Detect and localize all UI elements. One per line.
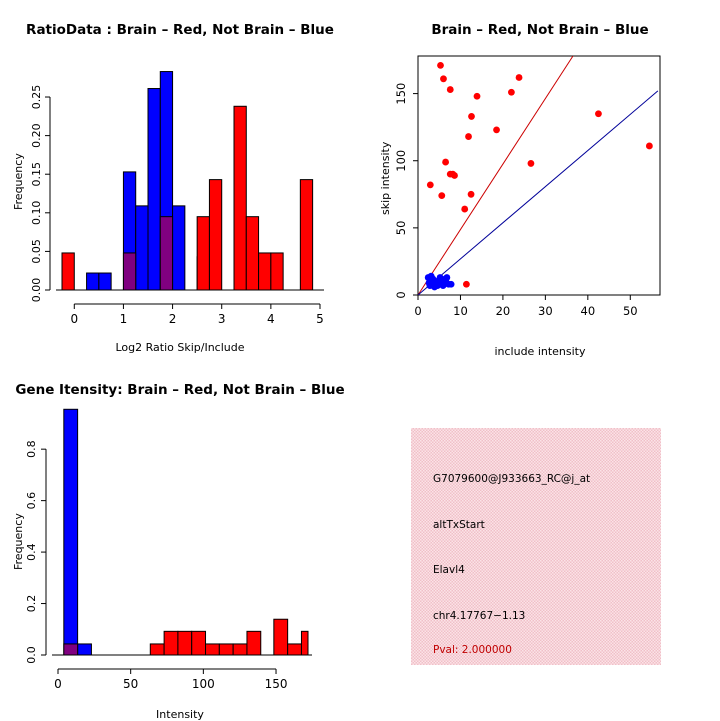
gene-histogram-ylabel: Frequency bbox=[12, 513, 25, 570]
histogram-bar-notbrain bbox=[78, 644, 92, 655]
info-event-type: altTxStart bbox=[433, 519, 485, 531]
scatter-point bbox=[448, 281, 455, 288]
histogram-bar-brain bbox=[62, 253, 74, 290]
histogram-bar-notbrain bbox=[148, 89, 160, 290]
x-tick-label: 40 bbox=[581, 304, 596, 318]
scatter-xlabel: include intensity bbox=[360, 345, 720, 358]
scatter-point bbox=[461, 206, 468, 213]
x-tick-label: 150 bbox=[265, 677, 288, 691]
y-tick-label: 0.4 bbox=[25, 543, 38, 561]
histogram-bar-brain bbox=[164, 631, 178, 655]
histogram-bar-notbrain bbox=[136, 206, 148, 290]
y-tick-label: 0.2 bbox=[25, 595, 38, 613]
histogram-bar-brain bbox=[178, 631, 192, 655]
scatter-point bbox=[646, 143, 653, 150]
y-tick-label: 0.05 bbox=[30, 239, 43, 264]
plot-page: RatioData : Brain – Red, Not Brain – Blu… bbox=[0, 0, 720, 720]
histogram-bar-brain bbox=[197, 217, 209, 290]
scatter-point bbox=[447, 86, 454, 93]
histogram-bar-brain bbox=[246, 217, 258, 290]
histogram-bar-brain bbox=[288, 644, 302, 655]
histogram-bar-brain bbox=[219, 644, 233, 655]
scatter-point bbox=[508, 89, 515, 96]
y-tick-label: 0.10 bbox=[30, 201, 43, 226]
histogram-bar-brain bbox=[259, 253, 271, 290]
y-tick-label: 0.8 bbox=[25, 440, 38, 458]
y-tick-label: 150 bbox=[394, 83, 408, 105]
histogram-bar-brain bbox=[209, 180, 221, 290]
histogram-bar-brain bbox=[274, 619, 288, 655]
gene-histogram-panel: Gene Itensity: Brain – Red, Not Brain – … bbox=[0, 360, 360, 720]
histogram-bar-brain bbox=[206, 644, 220, 655]
scatter-point bbox=[528, 160, 535, 167]
ratio-histogram-canvas: 0.000.050.100.150.200.25012345 bbox=[0, 0, 360, 360]
scatter-point bbox=[443, 274, 450, 281]
y-tick-label: 0 bbox=[394, 291, 408, 298]
ratio-histogram-ylabel: Frequency bbox=[12, 153, 25, 210]
scatter-point bbox=[474, 93, 481, 100]
histogram-bar-brain bbox=[233, 644, 247, 655]
info-locus: chr4.17767−1.13 bbox=[433, 610, 525, 622]
scatter-point bbox=[493, 126, 500, 133]
y-tick-label: 50 bbox=[394, 221, 408, 236]
x-tick-label: 4 bbox=[267, 312, 275, 326]
scatter-point bbox=[442, 159, 449, 166]
scatter-ylabel: skip intensity bbox=[379, 142, 392, 215]
scatter-point bbox=[427, 181, 434, 188]
x-tick-label: 2 bbox=[169, 312, 177, 326]
histogram-bar-notbrain bbox=[173, 206, 185, 290]
histogram-bar-overlap bbox=[123, 253, 135, 290]
y-tick-label: 0.20 bbox=[30, 123, 43, 148]
x-tick-label: 0 bbox=[414, 304, 421, 318]
blue-reference-line bbox=[418, 91, 658, 295]
x-tick-label: 3 bbox=[218, 312, 226, 326]
y-tick-label: 0.6 bbox=[25, 492, 38, 510]
x-tick-label: 20 bbox=[496, 304, 511, 318]
scatter-panel: Brain – Red, Not Brain – Blue 0102030405… bbox=[360, 0, 720, 360]
x-tick-label: 100 bbox=[192, 677, 215, 691]
scatter-point bbox=[468, 113, 475, 120]
info-gene-symbol: Elavl4 bbox=[433, 564, 465, 576]
histogram-bar-brain bbox=[301, 631, 308, 655]
gene-info-panel: G7079600@J933663_RC@j_ataltTxStartElavl4… bbox=[411, 428, 661, 665]
x-tick-label: 50 bbox=[623, 304, 638, 318]
scatter-point bbox=[468, 191, 475, 198]
gene-histogram-canvas: 0.00.20.40.60.8050100150 bbox=[0, 360, 360, 720]
histogram-bar-notbrain bbox=[87, 273, 99, 290]
y-tick-label: 0.0 bbox=[25, 646, 38, 664]
ratio-histogram-panel: RatioData : Brain – Red, Not Brain – Blu… bbox=[0, 0, 360, 360]
scatter-point bbox=[438, 192, 445, 199]
scatter-canvas: 01020304050050100150 bbox=[360, 0, 720, 360]
histogram-bar-notbrain bbox=[99, 273, 111, 290]
scatter-points bbox=[425, 62, 653, 290]
x-tick-label: 0 bbox=[54, 677, 62, 691]
x-tick-label: 50 bbox=[123, 677, 138, 691]
histogram-bar-brain bbox=[247, 631, 261, 655]
x-tick-label: 1 bbox=[120, 312, 128, 326]
scatter-point bbox=[426, 280, 433, 287]
x-tick-label: 30 bbox=[538, 304, 553, 318]
histogram-bar-notbrain bbox=[64, 409, 78, 655]
scatter-point bbox=[451, 172, 458, 179]
red-reference-line bbox=[418, 56, 573, 295]
info-pvalue: Pval: 2.000000 bbox=[433, 644, 512, 656]
histogram-bar-brain bbox=[150, 644, 164, 655]
x-tick-label: 0 bbox=[70, 312, 78, 326]
x-tick-label: 5 bbox=[316, 312, 324, 326]
scatter-point bbox=[437, 62, 444, 69]
histogram-bar-overlap bbox=[64, 644, 78, 655]
histogram-bar-brain bbox=[234, 106, 246, 290]
gene-histogram-xlabel: Intensity bbox=[0, 708, 360, 721]
scatter-point bbox=[465, 133, 472, 140]
y-tick-label: 0.25 bbox=[30, 85, 43, 110]
scatter-point bbox=[463, 281, 470, 288]
gene-bars bbox=[64, 409, 308, 655]
scatter-point bbox=[440, 75, 447, 82]
ratio-bars bbox=[62, 72, 313, 290]
info-probeset-id: G7079600@J933663_RC@j_at bbox=[433, 473, 590, 485]
histogram-bar-brain bbox=[192, 631, 206, 655]
ratio-histogram-xlabel: Log2 Ratio Skip/Include bbox=[0, 341, 360, 354]
scatter-point bbox=[595, 110, 602, 117]
scatter-point bbox=[435, 277, 442, 284]
x-tick-label: 10 bbox=[453, 304, 468, 318]
histogram-bar-brain bbox=[271, 253, 283, 290]
y-tick-label: 100 bbox=[394, 150, 408, 172]
histogram-bar-overlap bbox=[160, 217, 172, 290]
histogram-bar-brain bbox=[300, 180, 312, 290]
scatter-point bbox=[431, 284, 438, 291]
y-tick-label: 0.00 bbox=[30, 278, 43, 303]
y-tick-label: 0.15 bbox=[30, 162, 43, 187]
scatter-point bbox=[516, 74, 523, 81]
